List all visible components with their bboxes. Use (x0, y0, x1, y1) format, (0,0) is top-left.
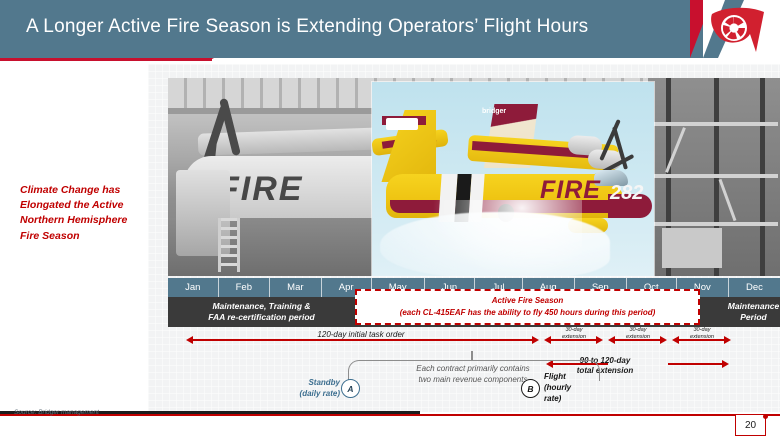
extension-1-arrow-head-right (596, 336, 603, 344)
left-caption-text: Climate Change has Elongated the Active … (20, 183, 140, 244)
extension-3-arrow-head-left (672, 336, 679, 344)
task-order-label: 120-day initial task order (286, 330, 436, 339)
flight-line-2: (hourly (544, 383, 571, 392)
revenue-component-node-b: B (521, 379, 540, 398)
contract-note-line-1: Each contract primarily contains (416, 364, 529, 373)
flight-line-3: rate) (544, 394, 561, 403)
month-cell-mar: Mar (270, 278, 322, 297)
maintenance-period-right: Maintenance Period (727, 297, 780, 327)
contract-duration-diagram: 120-day initial task order 30-day extens… (168, 330, 780, 414)
contract-note-line-2: two main revenue components (419, 375, 528, 384)
extension-3-line-2: extension (690, 334, 714, 340)
maintenance-right-line-2: Period (740, 312, 766, 323)
extension-1-line-1: 30-day (565, 327, 582, 333)
bridger-aerospace-logo-icon (706, 4, 770, 56)
extension-3-line-1: 30-day (693, 327, 710, 333)
month-cell-feb: Feb (219, 278, 271, 297)
extension-1-line-2: extension (562, 334, 586, 340)
extension-3-arrow-head-right (724, 336, 731, 344)
aircraft-tail-number: 282 (610, 182, 643, 205)
extension-2-label: 30-day extension (616, 327, 660, 341)
header-underline (0, 58, 212, 61)
standby-line-1: Standby (308, 378, 340, 387)
extension-1-arrow-head-left (544, 336, 551, 344)
footer-rule-red (0, 414, 780, 416)
extension-2-line-2: extension (626, 334, 650, 340)
flight-line-1: Flight (544, 372, 566, 381)
active-fire-season-title: Active Fire Season (492, 295, 564, 307)
page-title: A Longer Active Fire Season is Extending… (26, 16, 588, 38)
extension-1-label: 30-day extension (552, 327, 596, 341)
water-bomber-photo: bridger FIRE 282 (372, 82, 654, 276)
scaffolding-structure (648, 78, 780, 276)
total-extension-arrow-line-right (668, 363, 724, 365)
standby-label: Standby (daily rate) (276, 378, 340, 400)
maintenance-line-1: Maintenance, Training & (212, 301, 310, 312)
extension-2-line-1: 30-day (629, 327, 646, 333)
task-order-arrow-line (192, 339, 536, 341)
standby-line-2: (daily rate) (300, 389, 340, 398)
maintenance-training-period: Maintenance, Training & FAA re-certifica… (168, 297, 355, 327)
revenue-component-node-a: A (341, 379, 360, 398)
page-number-dot-icon (763, 414, 768, 419)
source-note: Source: Bridger management (14, 409, 99, 416)
total-extension-arrow-head-right (722, 360, 729, 368)
extension-2-arrow-head-right (660, 336, 667, 344)
maintenance-line-2: FAA re-certification period (208, 312, 314, 323)
active-fire-season-note: (each CL-415EAF has the ability to fly 4… (400, 307, 656, 319)
header-underline-taper (208, 58, 214, 61)
month-cell-jan: Jan (168, 278, 219, 297)
extension-2-arrow-head-left (608, 336, 615, 344)
period-bar: Maintenance, Training & FAA re-certifica… (168, 297, 780, 327)
bw-fuselage-text: FIRE (218, 170, 303, 209)
fin-brand-text: bridger (482, 108, 536, 119)
maintenance-right-line-1: Maintenance (728, 301, 780, 312)
month-cell-dec: Dec (729, 278, 780, 297)
active-fire-season-callout: Active Fire Season (each CL-415EAF has t… (355, 289, 700, 325)
flight-label: Flight (hourly rate) (544, 372, 588, 404)
task-order-arrow-head-right (532, 336, 539, 344)
extension-3-label: 30-day extension (680, 327, 724, 341)
page-number: 20 (735, 415, 766, 436)
task-order-arrow-head-left (186, 336, 193, 344)
slide: A Longer Active Fire Season is Extending… (0, 0, 780, 440)
